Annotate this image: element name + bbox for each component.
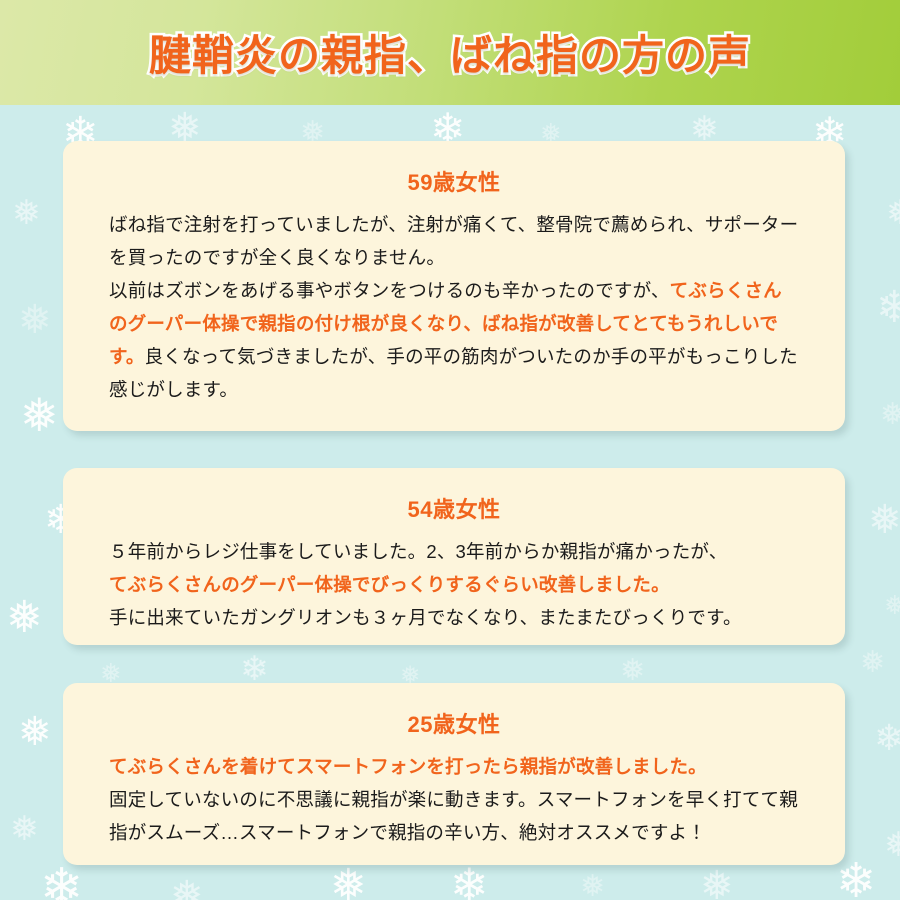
snowflake-icon: ❅	[884, 828, 900, 862]
testimonial-body: てぶらくさんを着けてスマートフォンを打ったら親指が改善しました。固定していないの…	[109, 751, 799, 850]
snowflake-icon: ❅	[868, 500, 900, 540]
snowflake-icon: ❅	[620, 656, 645, 686]
body-text: ばね指で注射を打っていましたが、注射が痛くて、整骨院で薦められ、サポーターを買っ…	[109, 214, 798, 268]
body-text: ５年前からレジ仕事をしていました。2、3年前からか親指が痛かったが、	[109, 541, 727, 562]
snowflake-icon: ❄	[874, 720, 900, 756]
page-title: 腱鞘炎の親指、ばね指の方の声	[149, 22, 751, 83]
body-text: 固定していないのに不思議に親指が楽に動きます。スマートフォンを早く打てて親指がス…	[109, 789, 798, 843]
highlighted-text: てぶらくさんを着けてスマートフォンを打ったら親指が改善しました。	[109, 756, 707, 777]
testimonial-card: 54歳女性 ５年前からレジ仕事をしていました。2、3年前からか親指が痛かったが、…	[63, 468, 845, 645]
snowflake-icon: ❅	[580, 872, 605, 900]
testimonial-title: 54歳女性	[109, 492, 799, 524]
snowflake-icon: ❅	[6, 596, 43, 640]
snowflake-icon: ❅	[700, 866, 734, 900]
body-text: 以前はズボンをあげる事やボタンをつけるのも辛かったのですが、	[109, 280, 670, 301]
snowflake-icon: ❄	[40, 862, 84, 900]
testimonial-card: 25歳女性 てぶらくさんを着けてスマートフォンを打ったら親指が改善しました。固定…	[63, 683, 845, 865]
highlighted-text: てぶらくさんのグーパー体操でびっくりするぐらい改善しました。	[109, 574, 670, 595]
page-header-banner: 腱鞘炎の親指、ばね指の方の声	[0, 0, 900, 105]
body-text: 手に出来ていたガングリオンも３ヶ月でなくなり、またまたびっくりです。	[109, 607, 742, 628]
snowflake-icon: ❅	[18, 300, 52, 340]
snowflake-icon: ❄	[240, 652, 269, 686]
testimonial-body: ばね指で注射を打っていましたが、注射が痛くて、整骨院で薦められ、サポーターを買っ…	[109, 209, 799, 407]
snowflake-icon: ❅	[20, 392, 59, 438]
snowflake-icon: ❅	[18, 712, 52, 752]
snowflake-icon: ❄	[876, 286, 900, 330]
snowflake-icon: ❅	[170, 876, 204, 900]
snowflake-icon: ❅	[860, 648, 885, 678]
snowflake-icon: ❅	[884, 592, 900, 618]
testimonial-body: ５年前からレジ仕事をしていました。2、3年前からか親指が痛かったが、てぶらくさん…	[109, 536, 799, 635]
snowflake-icon: ❄	[836, 858, 876, 900]
snowflake-icon: ❅	[12, 196, 41, 230]
testimonial-card: 59歳女性 ばね指で注射を打っていましたが、注射が痛くて、整骨院で薦められ、サポ…	[63, 141, 845, 431]
snowflake-icon: ❄	[450, 862, 489, 900]
testimonials-page: ❄❅❅❄❅❅❄❅❅❅❄❅❅❄❅❅❄❅❅❅❅❅❅❄❅❅❄❅❅❄❅❅❄ 腱鞘炎の親指…	[0, 0, 900, 900]
testimonial-title: 25歳女性	[109, 707, 799, 739]
snowflake-icon: ❅	[880, 400, 900, 430]
snowflake-icon: ❅	[330, 864, 367, 900]
snowflake-icon: ❅	[10, 812, 39, 846]
body-text: 良くなって気づきましたが、手の平の筋肉がついたのか手の平がもっこりした感じがしま…	[109, 346, 798, 400]
testimonial-title: 59歳女性	[109, 165, 799, 197]
snowflake-icon: ❅	[886, 196, 900, 230]
